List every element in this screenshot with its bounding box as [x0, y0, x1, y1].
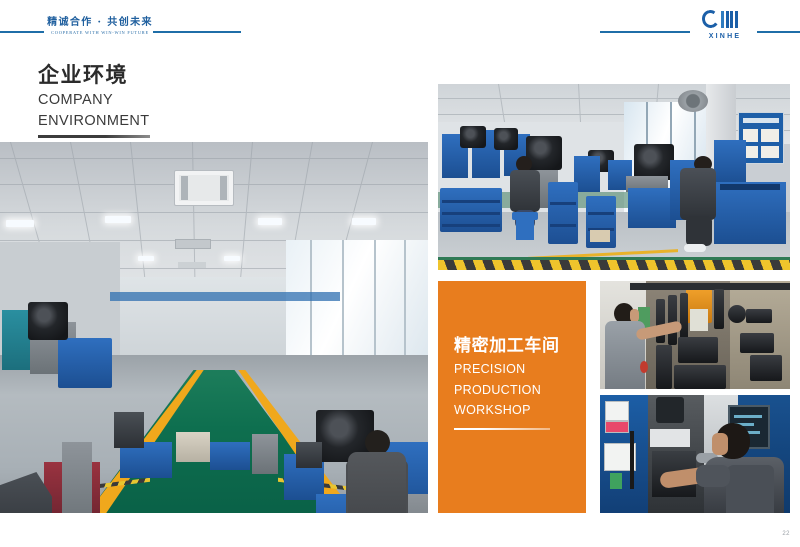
standing-worker — [680, 156, 716, 252]
slogan-chinese: 精诚合作 · 共创未来 — [46, 16, 154, 29]
logo-bars-icon — [721, 11, 740, 28]
ceiling-light — [105, 216, 131, 223]
machine — [252, 434, 278, 474]
tooling-arm — [656, 345, 672, 389]
machine-cream-block — [690, 309, 708, 331]
hazard-stripe — [438, 260, 790, 270]
machine-plate — [650, 429, 690, 447]
header-slogan: 精诚合作 · 共创未来 COOPERATE WITH WIN-WIN FUTUR… — [46, 16, 154, 37]
caption-text: 精密加工车间 PRECISION PRODUCTION WORKSHOP — [454, 335, 576, 430]
header-rule-left-outer — [0, 31, 44, 33]
wall-blue-band — [110, 292, 340, 301]
logo-c-shape-icon — [701, 9, 721, 30]
cable — [630, 431, 634, 489]
green-indicator — [610, 473, 622, 489]
tooling-head — [746, 309, 772, 323]
photo-production-hall — [438, 84, 790, 270]
photo-worker-blue-machine — [600, 395, 790, 513]
ceiling-ac-unit — [174, 170, 234, 206]
stool-legs — [516, 218, 534, 240]
page-title: 企业环境 COMPANY ENVIRONMENT — [38, 62, 150, 138]
warning-label — [605, 421, 629, 433]
photo-main-workshop — [0, 142, 428, 513]
machine — [176, 432, 210, 462]
page-header: 精诚合作 · 共创未来 COOPERATE WITH WIN-WIN FUTUR… — [0, 0, 800, 52]
slide-page: 精诚合作 · 共创未来 COOPERATE WITH WIN-WIN FUTUR… — [0, 0, 800, 547]
cart-box — [590, 230, 610, 242]
machine — [296, 442, 322, 468]
ceiling-vent-far — [178, 262, 206, 268]
ceiling-light — [258, 218, 282, 225]
ceiling-light — [352, 218, 376, 225]
spring-machine-head — [494, 128, 518, 150]
tooling-head — [656, 397, 684, 423]
spring-machine-head — [460, 126, 486, 148]
machine — [210, 442, 250, 470]
caption-block-precision-workshop: 精密加工车间 PRECISION PRODUCTION WORKSHOP — [438, 281, 586, 513]
ceiling-light — [224, 256, 240, 261]
logo-mark-icon — [702, 10, 748, 30]
tooling-arm — [680, 293, 688, 339]
caption-underline — [454, 428, 550, 431]
caption-chinese: 精密加工车间 — [454, 335, 576, 357]
emergency-button-icon — [640, 361, 648, 373]
page-title-chinese: 企业环境 — [38, 62, 150, 88]
tool-cart — [548, 182, 578, 244]
caption-english-line1: PRECISION — [454, 361, 576, 378]
page-title-english-line2: ENVIRONMENT — [38, 112, 150, 130]
ceiling-vent — [175, 239, 211, 249]
machine-cabinet — [714, 182, 786, 244]
header-rule-right-inner — [600, 31, 690, 33]
spring-machine-head — [28, 302, 68, 340]
machine — [114, 412, 144, 448]
ceiling-light — [138, 256, 154, 261]
worker-person — [348, 430, 406, 513]
machine — [58, 338, 112, 388]
tool-cart — [440, 188, 502, 232]
caption-english-line3: WORKSHOP — [454, 402, 576, 419]
machine — [714, 140, 746, 184]
ceiling-light — [6, 220, 34, 227]
machine-top-rail — [630, 283, 790, 290]
tooling-head — [728, 305, 746, 323]
header-rule-left-inner — [153, 31, 241, 33]
safety-label — [605, 401, 629, 421]
title-underline — [38, 135, 150, 138]
slogan-english: COOPERATE WITH WIN-WIN FUTURE — [46, 29, 154, 37]
caption-english-line2: PRODUCTION — [454, 382, 576, 399]
logo-wordmark: XINHE — [694, 33, 756, 40]
wall-fan-icon — [678, 90, 708, 112]
photo-worker-machine — [600, 281, 790, 389]
tooling-arm — [714, 289, 724, 329]
machine-base — [674, 365, 726, 389]
tooling-arm — [668, 295, 677, 345]
page-title-english-line1: COMPANY — [38, 91, 150, 109]
press-column — [62, 442, 92, 513]
company-logo: XINHE — [694, 10, 756, 44]
machine — [628, 188, 676, 228]
tooling-head — [750, 355, 782, 381]
machine — [2, 310, 30, 370]
spring-machine-head — [634, 144, 674, 180]
tooling-head — [740, 333, 774, 353]
header-rule-right-outer — [757, 31, 800, 33]
machine-body — [678, 337, 718, 363]
page-number: 22 — [782, 531, 790, 537]
cabinet-trim — [720, 184, 780, 190]
